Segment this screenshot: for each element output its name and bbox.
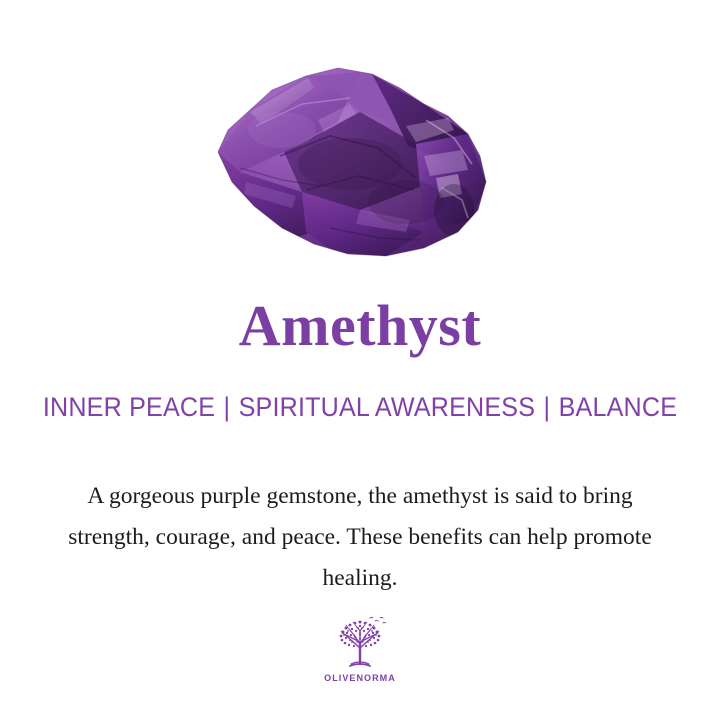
tagline-separator: | <box>215 392 238 423</box>
brand-wordmark: OLIVENORMA <box>18 673 702 684</box>
page-title: Amethyst <box>0 296 720 357</box>
description-text: A gorgeous purple gemstone, the amethyst… <box>48 476 673 599</box>
raw-amethyst-crystal-icon <box>210 60 510 270</box>
gemstone-image-area <box>0 60 720 280</box>
tree-of-life-icon <box>331 614 389 672</box>
amethyst-info-card: Amethyst INNER PEACE|SPIRITUAL AWARENESS… <box>0 0 720 720</box>
brand-logo: OLIVENORMA <box>0 614 720 684</box>
keyword-tagline: INNER PEACE|SPIRITUAL AWARENESS|BALANCE <box>25 392 695 423</box>
tagline-item-2: SPIRITUAL AWARENESS <box>239 392 536 422</box>
tagline-separator: | <box>535 392 558 423</box>
tagline-item-3: BALANCE <box>559 392 678 422</box>
tagline-item-1: INNER PEACE <box>43 392 215 422</box>
